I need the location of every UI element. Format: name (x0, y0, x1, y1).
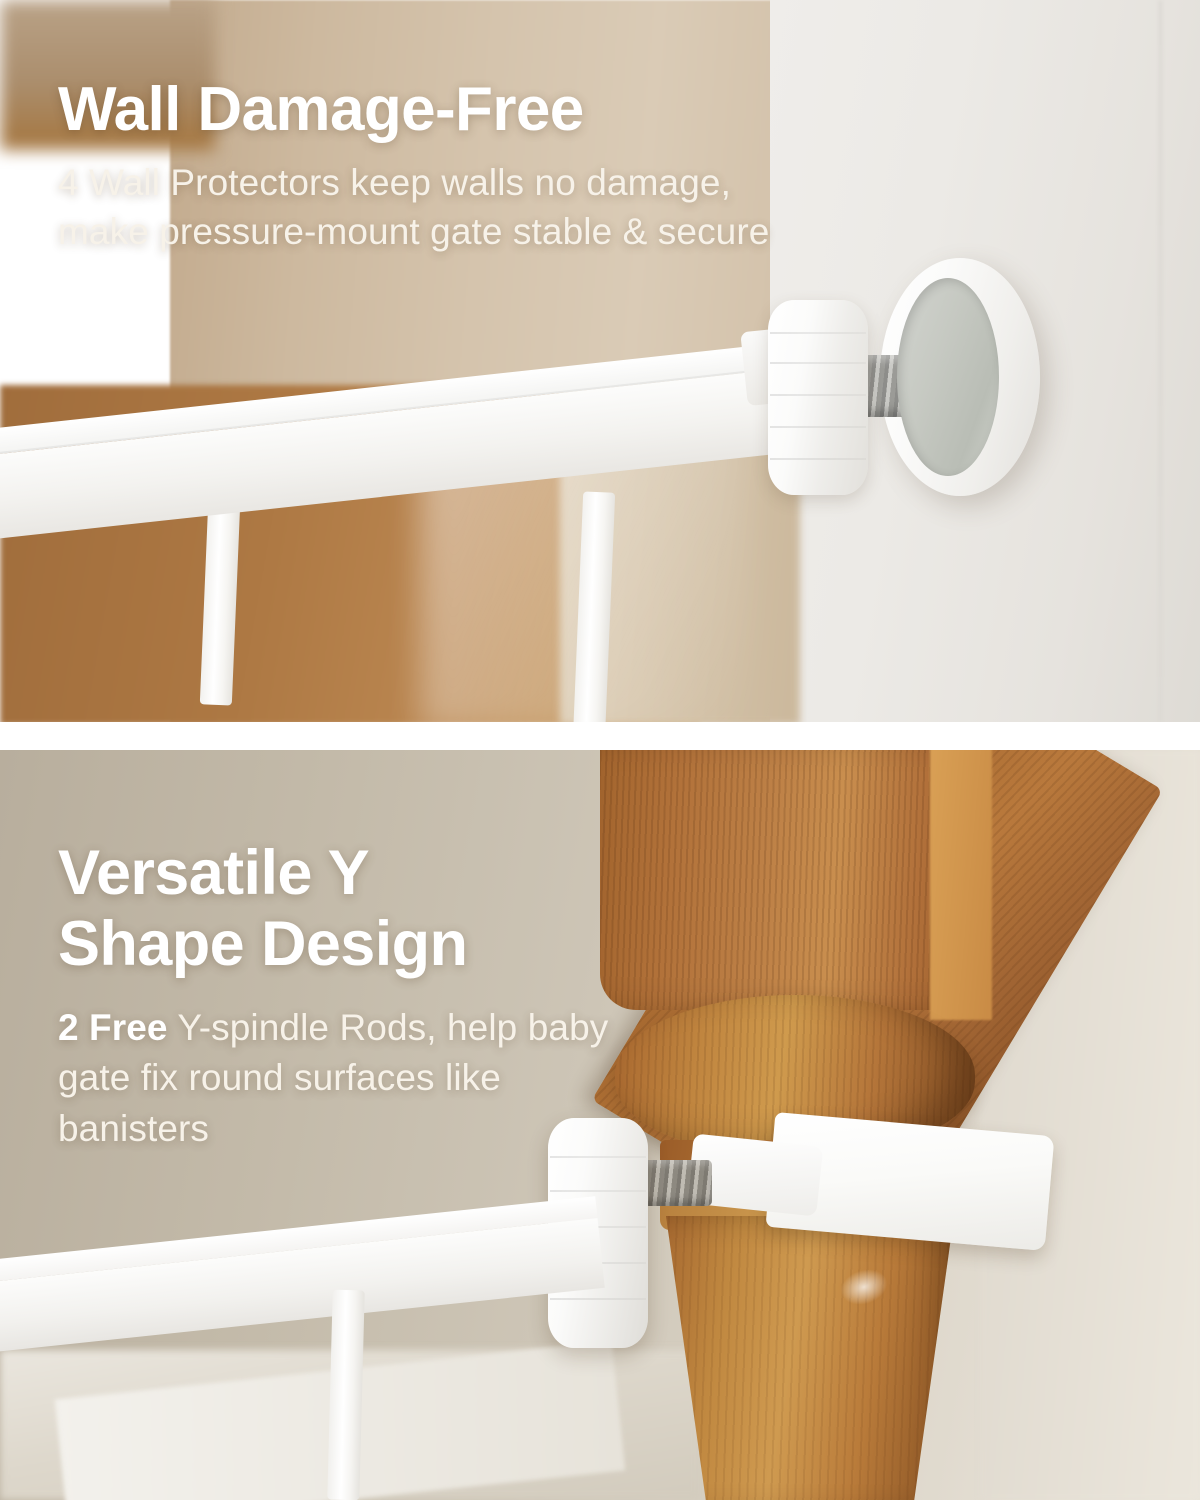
thumb-knob (768, 300, 868, 495)
knob-rib (770, 332, 866, 334)
panel-headline: Wall Damage-Free (58, 78, 778, 142)
panel-divider (0, 722, 1200, 750)
newel-post-taper (660, 1216, 960, 1500)
knob-rib (550, 1156, 646, 1158)
knob-rib (770, 394, 866, 396)
newel-post-chamfer (930, 750, 992, 1020)
knob-rib (770, 362, 866, 364)
panel-headline-line: Shape Design (58, 909, 618, 980)
knob-rib (550, 1190, 646, 1192)
panel-body-text: 2 Free Y-spindle Rods, help baby gate fi… (58, 1003, 618, 1154)
panel-headline-line: Versatile Y (58, 838, 618, 909)
body-text-emphasis: 2 Free (58, 1007, 168, 1048)
knob-rib (550, 1298, 646, 1300)
knob-rib (770, 458, 866, 460)
panel-body-text: 4 Wall Protectors keep walls no damage, … (58, 158, 778, 256)
infographic-sheet: Wall Damage-Free 4 Wall Protectors keep … (0, 0, 1200, 1500)
panel-headline: Versatile Y Shape Design (58, 838, 618, 979)
panel-wall-damage-free: Wall Damage-Free 4 Wall Protectors keep … (0, 0, 1200, 722)
threaded-bolt (640, 1160, 712, 1206)
wall-protector-disc (897, 278, 999, 476)
knob-rib (770, 426, 866, 428)
top-panel-copy: Wall Damage-Free 4 Wall Protectors keep … (58, 78, 778, 256)
bottom-panel-copy: Versatile Y Shape Design 2 Free Y-spindl… (58, 838, 618, 1154)
gate-spindle (327, 1290, 364, 1500)
